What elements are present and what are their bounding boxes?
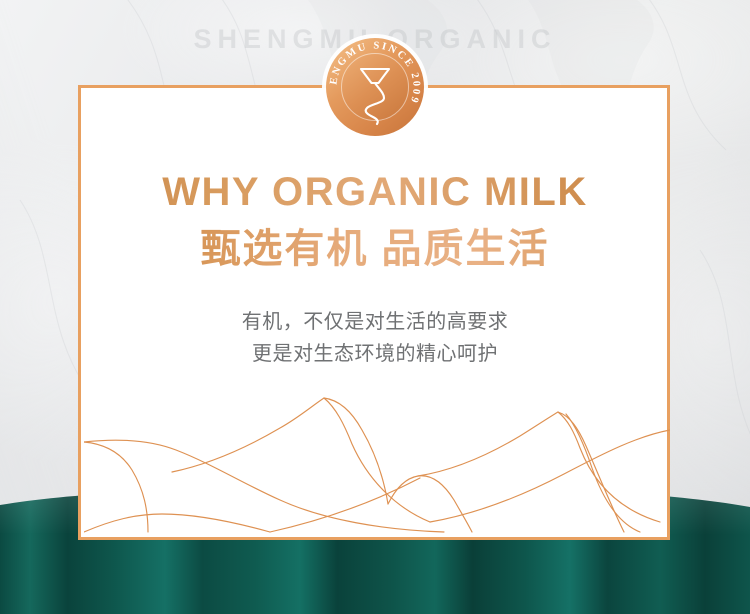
mountain-line-art [84, 374, 670, 534]
subcopy-line-2: 更是对生态环境的精心呵护 [0, 338, 750, 370]
subcopy-block: 有机，不仅是对生活的高要求 更是对生态环境的精心呵护 [0, 306, 750, 370]
shengmu-logo-badge: SHENGMU SINCE 2009 [321, 33, 429, 141]
headline-english: WHY ORGANIC MILK [0, 172, 750, 212]
headline-chinese: 甄选有机 品质生活 [0, 226, 750, 272]
subcopy-line-1: 有机，不仅是对生活的高要求 [0, 306, 750, 338]
poster-canvas: SHENGMU ORGANIC [0, 0, 750, 614]
